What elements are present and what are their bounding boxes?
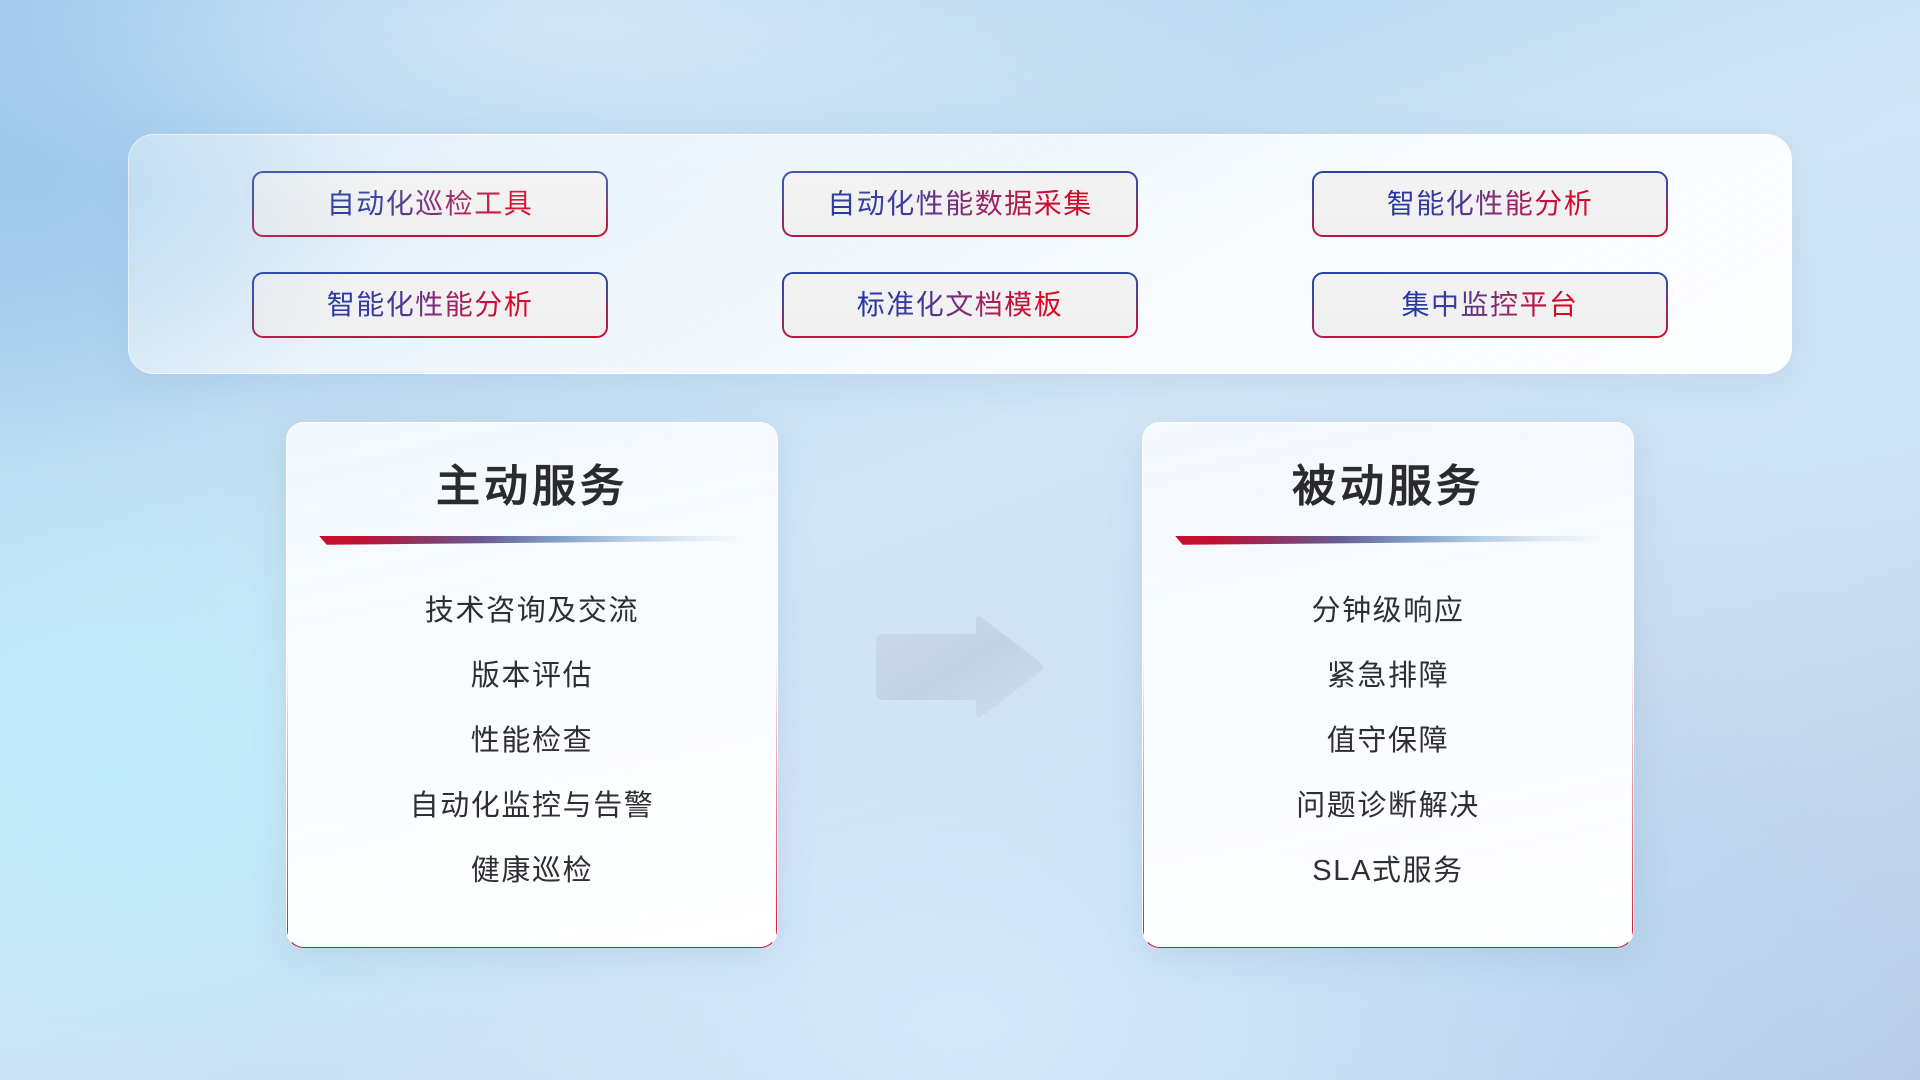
title-divider [319, 536, 745, 545]
list-item: 自动化监控与告警 [287, 774, 777, 839]
list-item: 问题诊断解决 [1143, 774, 1633, 839]
capability-tag-label: 自动化性能数据采集 [827, 190, 1093, 218]
capability-tag[interactable]: 标准化文档模板 [782, 272, 1138, 338]
capability-tag-label: 集中监控平台 [1401, 291, 1578, 319]
list-item: 技术咨询及交流 [287, 579, 777, 644]
list-item: 值守保障 [1143, 709, 1633, 774]
capability-tag-label: 智能化性能分析 [1387, 190, 1594, 218]
proactive-service-card: 主动服务 技术咨询及交流 版本评估 性能检查 自动化监控与告警 健康巡检 [286, 422, 778, 948]
capability-tag[interactable]: 自动化巡检工具 [252, 171, 608, 237]
capability-tag[interactable]: 自动化性能数据采集 [782, 171, 1138, 237]
service-item-list: 技术咨询及交流 版本评估 性能检查 自动化监控与告警 健康巡检 [287, 579, 777, 904]
card-title: 被动服务 [1143, 461, 1633, 514]
capability-tag[interactable]: 智能化性能分析 [252, 272, 608, 338]
capability-tag[interactable]: 集中监控平台 [1312, 272, 1668, 338]
list-item: 健康巡检 [287, 839, 777, 904]
list-item: 紧急排障 [1143, 644, 1633, 709]
card-title: 主动服务 [287, 461, 777, 514]
slide-canvas: 自动化巡检工具 自动化性能数据采集 智能化性能分析 智能化性能分析 标准化文档模… [0, 0, 1920, 1080]
arrow-right-icon [870, 612, 1048, 722]
capability-tag[interactable]: 智能化性能分析 [1312, 171, 1668, 237]
list-item: 性能检查 [287, 709, 777, 774]
title-divider [1175, 536, 1601, 545]
service-item-list: 分钟级响应 紧急排障 值守保障 问题诊断解决 SLA式服务 [1143, 579, 1633, 904]
capability-tag-label: 智能化性能分析 [327, 291, 534, 319]
capability-tag-label: 标准化文档模板 [857, 291, 1064, 319]
reactive-service-card: 被动服务 分钟级响应 紧急排障 值守保障 问题诊断解决 SLA式服务 [1142, 422, 1634, 948]
list-item: SLA式服务 [1143, 839, 1633, 904]
capability-tag-label: 自动化巡检工具 [327, 190, 534, 218]
capability-tags-panel: 自动化巡检工具 自动化性能数据采集 智能化性能分析 智能化性能分析 标准化文档模… [128, 134, 1792, 374]
list-item: 版本评估 [287, 644, 777, 709]
list-item: 分钟级响应 [1143, 579, 1633, 644]
